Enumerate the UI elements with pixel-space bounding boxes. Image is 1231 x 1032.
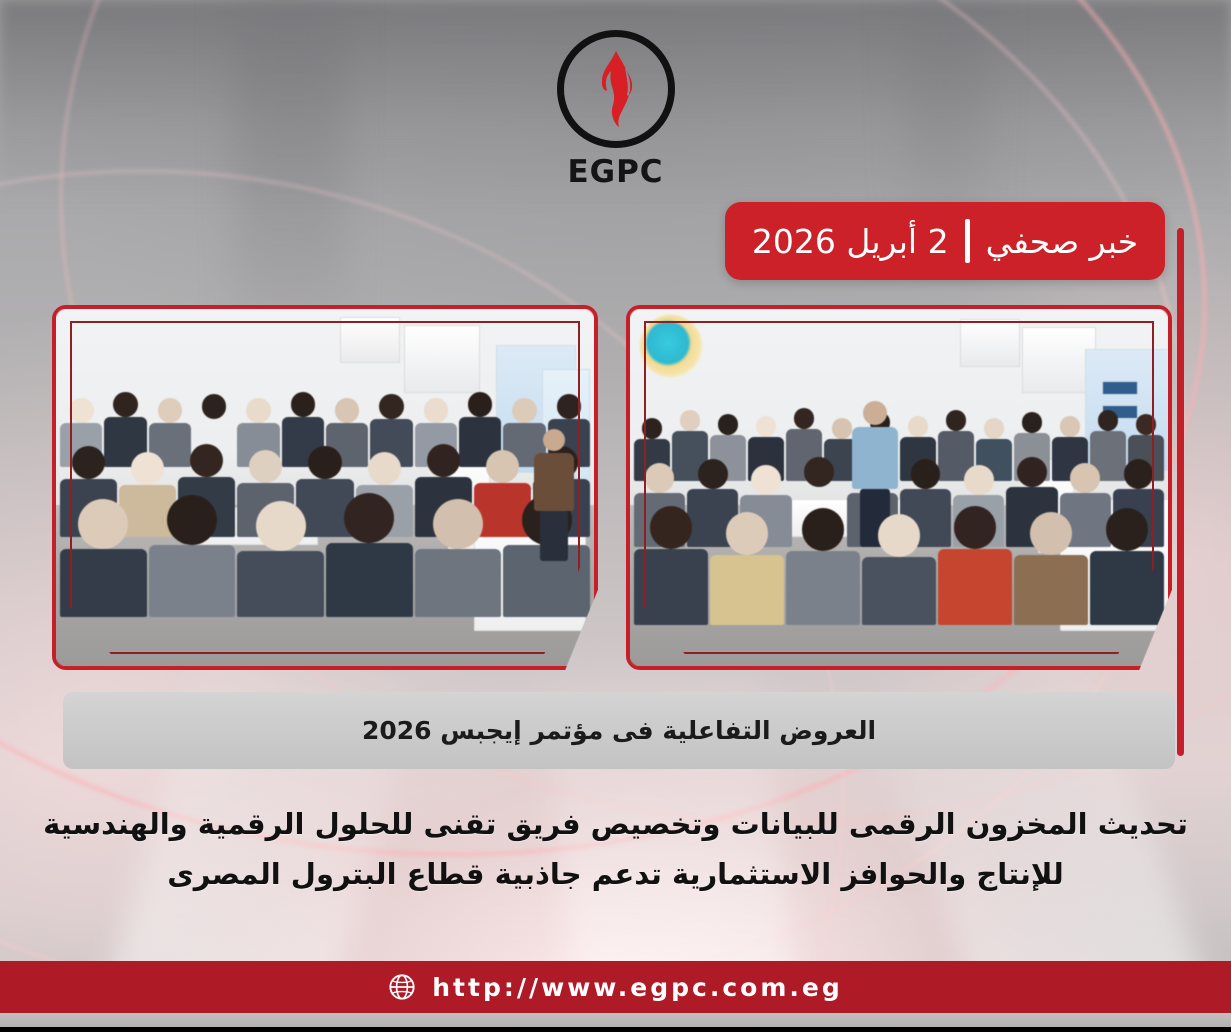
- footer-strip: [0, 1013, 1231, 1027]
- flame-icon: [590, 50, 642, 128]
- badge-separator: [965, 219, 970, 263]
- photo-left: [626, 305, 1172, 670]
- badge-label: خبر صحفي: [986, 222, 1139, 261]
- photo-caption-text: العروض التفاعلية فى مؤتمر إيجبس 2026: [362, 716, 876, 745]
- photo-right-content: [56, 309, 594, 666]
- headline-line-1: تحديث المخزون الرقمى للبيانات وتخصيص فري…: [43, 807, 1188, 841]
- photo-right: [52, 305, 598, 670]
- press-release-badge: خبر صحفي 2 أبريل 2026: [725, 202, 1165, 280]
- headline-line-2: للإنتاج والحوافز الاستثمارية تدعم جاذبية…: [42, 850, 1189, 900]
- photo-gallery: [52, 305, 1172, 670]
- photo-caption-bar: العروض التفاعلية فى مؤتمر إيجبس 2026: [63, 692, 1175, 769]
- website-url[interactable]: http://www.egpc.com.eg: [432, 973, 843, 1002]
- photo-left-content: [630, 309, 1168, 666]
- egpc-logo: EGPC: [516, 30, 716, 190]
- globe-icon: [388, 973, 416, 1001]
- press-release-poster: EGPC خبر صحفي 2 أبريل 2026: [0, 0, 1231, 1032]
- logo-wordmark: EGPC: [516, 154, 716, 190]
- footer-bar: http://www.egpc.com.eg: [0, 961, 1231, 1013]
- footer-black-edge: [0, 1027, 1231, 1032]
- badge-date: 2 أبريل 2026: [752, 222, 949, 261]
- logo-ring-icon: [557, 30, 675, 148]
- headline: تحديث المخزون الرقمى للبيانات وتخصيص فري…: [42, 800, 1189, 900]
- red-accent-line: [1177, 228, 1184, 756]
